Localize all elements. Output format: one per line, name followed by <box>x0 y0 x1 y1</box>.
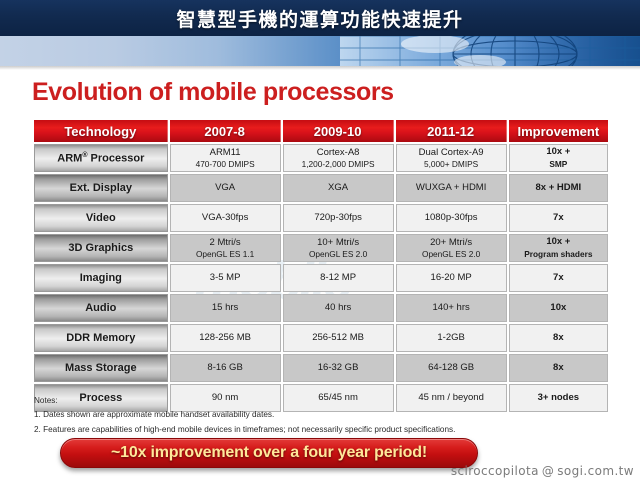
watermark-at: @ <box>542 464 554 478</box>
cell-main: 10x + <box>546 236 570 247</box>
slide-content: mobile Evolution of mobile processors Te… <box>14 70 626 472</box>
summary-callout-text: ~10x improvement over a four year period… <box>111 444 427 462</box>
banner-decoration <box>0 36 640 66</box>
table-row: 3D Graphics 2 Mtri/sOpenGL ES 1.1 10+ Mt… <box>34 234 608 262</box>
cell-main: 10x + <box>546 146 570 157</box>
cell-3d-2009: 10+ Mtri/sOpenGL ES 2.0 <box>283 234 394 262</box>
cell-main: Cortex-A8 <box>317 147 360 158</box>
row-label-tail: Processor <box>87 152 144 164</box>
cell-audio-improvement: 10x <box>509 294 608 322</box>
cell-ddr-2011: 1-2GB <box>396 324 507 352</box>
table-row: Audio 15 hrs 40 hrs 140+ hrs 10x <box>34 294 608 322</box>
cell-storage-2009: 16-32 GB <box>283 354 394 382</box>
cell-display-2011: WUXGA + HDMI <box>396 174 507 202</box>
cell-main: ARM11 <box>210 147 241 158</box>
cell-3d-2007: 2 Mtri/sOpenGL ES 1.1 <box>170 234 281 262</box>
cell-arm-improvement: 10x +SMP <box>509 144 608 172</box>
cell-display-2007: VGA <box>170 174 281 202</box>
slide-canvas: 智慧型手機的運算功能快速提升 <box>0 0 640 481</box>
table-row: Ext. Display VGA XGA WUXGA + HDMI 8x + H… <box>34 174 608 202</box>
cell-ddr-2009: 256-512 MB <box>283 324 394 352</box>
column-header-2011-12: 2011-12 <box>396 120 507 142</box>
cell-audio-2009: 40 hrs <box>283 294 394 322</box>
row-label-text: ARM <box>57 152 82 164</box>
table-row: Imaging 3-5 MP 8-12 MP 16-20 MP 7x <box>34 264 608 292</box>
cell-3d-2011: 20+ Mtri/sOpenGL ES 2.0 <box>396 234 507 262</box>
cell-display-2009: XGA <box>283 174 394 202</box>
cell-storage-2011: 64-128 GB <box>396 354 507 382</box>
table-header-row: Technology 2007-8 2009-10 2011-12 Improv… <box>34 120 608 142</box>
banner-shadow <box>0 66 640 70</box>
cell-sub: OpenGL ES 2.0 <box>397 249 506 259</box>
column-header-improvement: Improvement <box>509 120 608 142</box>
cell-3d-improvement: 10x +Program shaders <box>509 234 608 262</box>
column-header-technology: Technology <box>34 120 168 142</box>
row-label-3d-graphics: 3D Graphics <box>34 234 168 262</box>
summary-callout: ~10x improvement over a four year period… <box>60 438 478 468</box>
cell-storage-improvement: 8x <box>509 354 608 382</box>
page-title: Evolution of mobile processors <box>32 78 394 107</box>
wire-globe-icon <box>340 36 640 66</box>
watermark-user: sciroccopilota <box>451 464 539 478</box>
cell-imaging-improvement: 7x <box>509 264 608 292</box>
cell-sub: 470-700 DMIPS <box>171 159 280 169</box>
cell-audio-2007: 15 hrs <box>170 294 281 322</box>
cell-main: 10+ Mtri/s <box>317 237 359 248</box>
cell-main: 2 Mtri/s <box>210 237 241 248</box>
slide-title-bar: 智慧型手機的運算功能快速提升 <box>0 0 640 36</box>
cell-imaging-2009: 8-12 MP <box>283 264 394 292</box>
table-header: Technology 2007-8 2009-10 2011-12 Improv… <box>34 120 608 142</box>
cell-sub: 5,000+ DMIPS <box>397 159 506 169</box>
note-item-2: 2. Features are capabilities of high-end… <box>34 423 455 437</box>
notes-heading: Notes: <box>34 394 455 408</box>
row-label-audio: Audio <box>34 294 168 322</box>
cell-storage-2007: 8-16 GB <box>170 354 281 382</box>
cell-video-2011: 1080p-30fps <box>396 204 507 232</box>
row-label-arm-processor: ARM® Processor <box>34 144 168 172</box>
cell-ddr-2007: 128-256 MB <box>170 324 281 352</box>
table-body: ARM® Processor ARM11470-700 DMIPS Cortex… <box>34 144 608 412</box>
cell-sub: SMP <box>510 159 607 170</box>
cell-main: 20+ Mtri/s <box>430 237 472 248</box>
cell-ddr-improvement: 8x <box>509 324 608 352</box>
cell-video-2007: VGA-30fps <box>170 204 281 232</box>
table-row: Video VGA-30fps 720p-30fps 1080p-30fps 7… <box>34 204 608 232</box>
watermark-site: sogi.com.tw <box>557 464 634 478</box>
cell-video-improvement: 7x <box>509 204 608 232</box>
table-row: DDR Memory 128-256 MB 256-512 MB 1-2GB 8… <box>34 324 608 352</box>
cell-arm-2007: ARM11470-700 DMIPS <box>170 144 281 172</box>
cell-sub: OpenGL ES 1.1 <box>171 249 280 259</box>
row-label-video: Video <box>34 204 168 232</box>
cell-main: Dual Cortex-A9 <box>419 147 484 158</box>
cell-video-2009: 720p-30fps <box>283 204 394 232</box>
cell-sub: 1,200-2,000 DMIPS <box>284 159 393 169</box>
cell-imaging-2007: 3-5 MP <box>170 264 281 292</box>
row-label-ddr-memory: DDR Memory <box>34 324 168 352</box>
evolution-table: Technology 2007-8 2009-10 2011-12 Improv… <box>32 118 610 414</box>
cell-process-improvement: 3+ nodes <box>509 384 608 412</box>
column-header-2007-8: 2007-8 <box>170 120 281 142</box>
cell-imaging-2011: 16-20 MP <box>396 264 507 292</box>
cell-sub: OpenGL ES 2.0 <box>284 249 393 259</box>
slide-chinese-title: 智慧型手機的運算功能快速提升 <box>176 5 463 32</box>
note-item-1: 1. Dates shown are approximate mobile ha… <box>34 408 455 422</box>
row-label-ext-display: Ext. Display <box>34 174 168 202</box>
cell-display-improvement: 8x + HDMI <box>509 174 608 202</box>
column-header-2009-10: 2009-10 <box>283 120 394 142</box>
row-label-imaging: Imaging <box>34 264 168 292</box>
notes-block: Notes: 1. Dates shown are approximate mo… <box>34 394 455 437</box>
cell-arm-2011: Dual Cortex-A95,000+ DMIPS <box>396 144 507 172</box>
cell-audio-2011: 140+ hrs <box>396 294 507 322</box>
table-row: ARM® Processor ARM11470-700 DMIPS Cortex… <box>34 144 608 172</box>
table-row: Mass Storage 8-16 GB 16-32 GB 64-128 GB … <box>34 354 608 382</box>
row-label-mass-storage: Mass Storage <box>34 354 168 382</box>
cell-sub: Program shaders <box>510 249 607 260</box>
cell-arm-2009: Cortex-A81,200-2,000 DMIPS <box>283 144 394 172</box>
site-watermark: sciroccopilota@sogi.com.tw <box>451 464 634 478</box>
